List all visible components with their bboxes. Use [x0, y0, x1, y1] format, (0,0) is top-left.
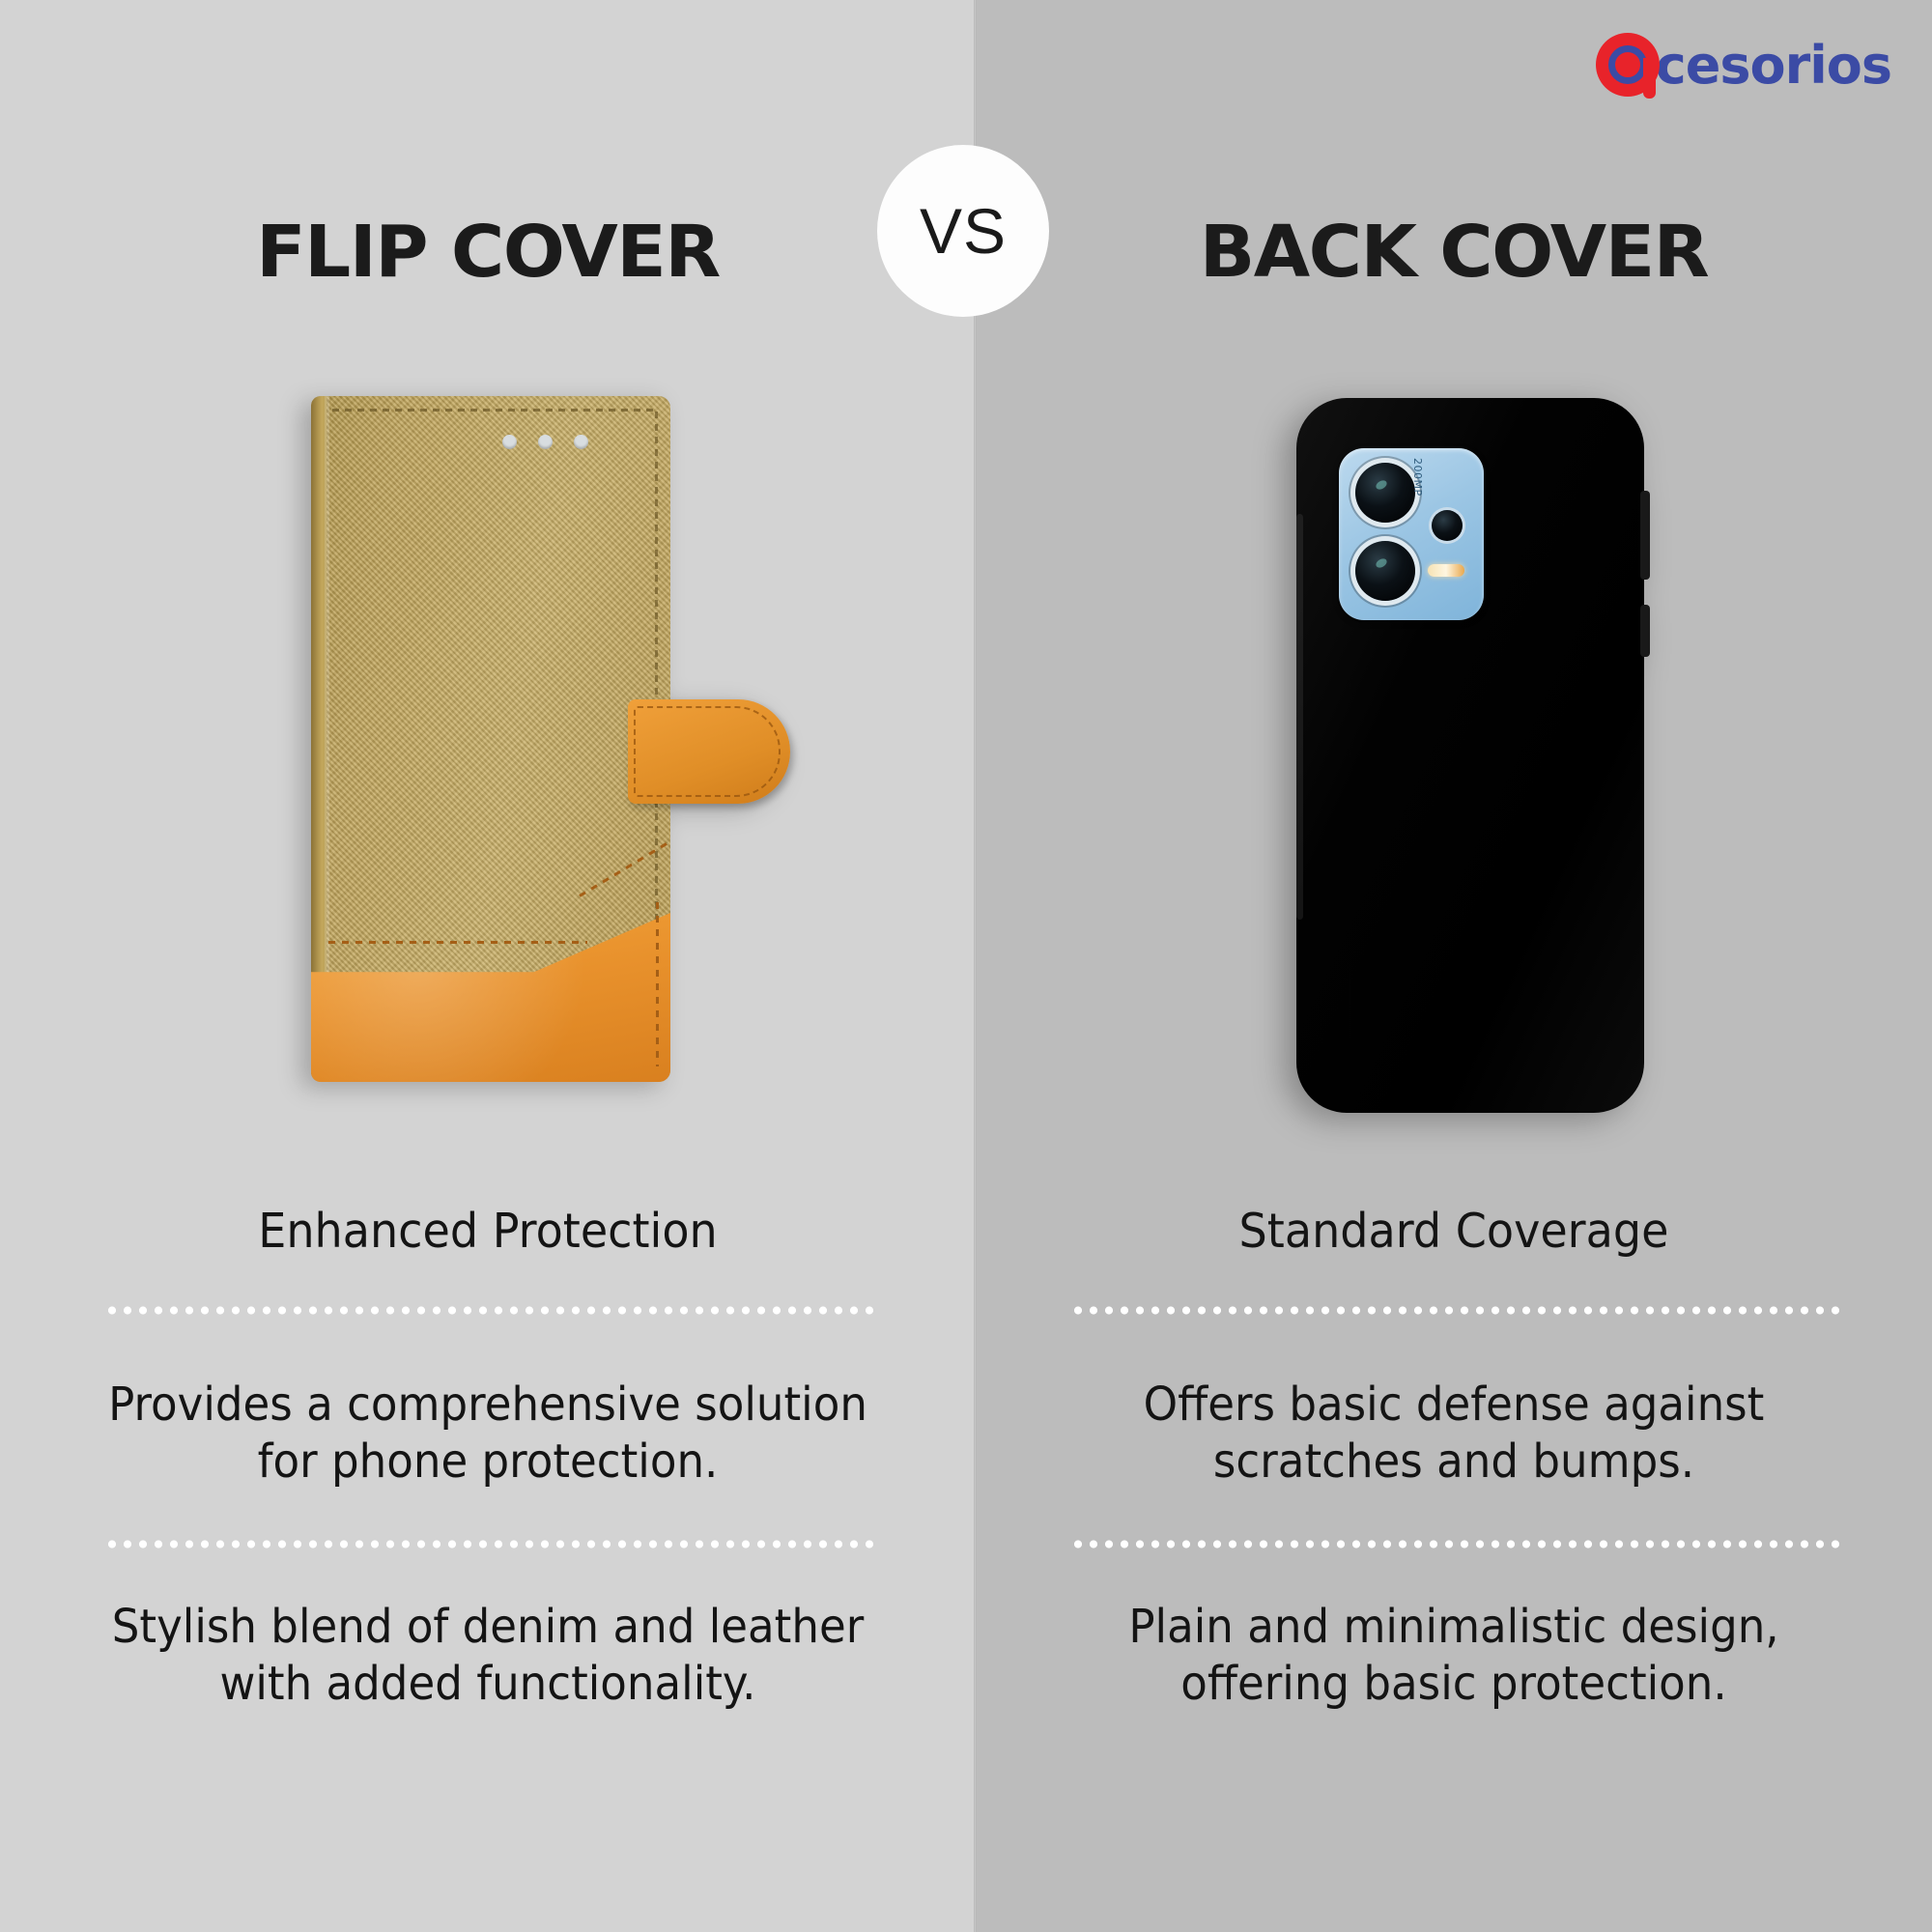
left-feature-3: Stylish blend of denim and leather with … [84, 1599, 893, 1712]
right-feature-2: Offers basic defense against scratches a… [1050, 1377, 1859, 1490]
right-feature-title: Standard Coverage [1050, 1203, 1859, 1261]
left-feature-title: Enhanced Protection [84, 1203, 893, 1261]
left-divider-1 [104, 1306, 877, 1315]
volume-button [1640, 491, 1650, 580]
right-feature-3: Plain and minimalistic design, offering … [1050, 1599, 1859, 1712]
left-column-heading: FLIP COVER [0, 211, 985, 294]
back-cover-left-lip [1296, 514, 1303, 920]
right-column-heading: BACK COVER [966, 211, 1932, 294]
camera-flash-icon [1428, 564, 1464, 577]
left-feature-2: Provides a comprehensive solution for ph… [84, 1377, 893, 1490]
main-camera-lens-icon [1355, 463, 1415, 523]
versus-badge: VS [877, 145, 1049, 317]
brand-name: cesorios [1656, 35, 1891, 96]
flip-cover-top-stitching [332, 409, 653, 412]
power-button [1640, 605, 1650, 657]
brand-logo[interactable]: cesorios [1596, 29, 1891, 100]
leather-right-stitching [656, 902, 659, 1066]
right-divider-1 [1070, 1306, 1843, 1315]
camera-module: 200MP [1339, 448, 1484, 620]
left-divider-2 [104, 1540, 877, 1548]
flip-cover-denim-body [311, 396, 670, 1082]
flip-cover-product-image [311, 396, 670, 1082]
ultrawide-camera-lens-icon [1355, 541, 1415, 601]
flip-cover-magnetic-flap [628, 699, 790, 804]
macro-camera-lens-icon [1432, 510, 1463, 541]
back-cover-product-image: 200MP [1296, 398, 1644, 1113]
flip-cover-leather-panel [311, 913, 670, 1082]
back-cover-shell: 200MP [1296, 398, 1644, 1113]
right-divider-2 [1070, 1540, 1843, 1548]
infographic-canvas: cesorios FLIP COVER BACK COVER VS [0, 0, 1932, 1932]
flip-cover-card-slot-dots [502, 435, 588, 449]
brand-a-icon [1596, 33, 1660, 97]
camera-megapixel-label: 200MP [1411, 458, 1424, 497]
leather-horizontal-stitching [328, 941, 587, 944]
